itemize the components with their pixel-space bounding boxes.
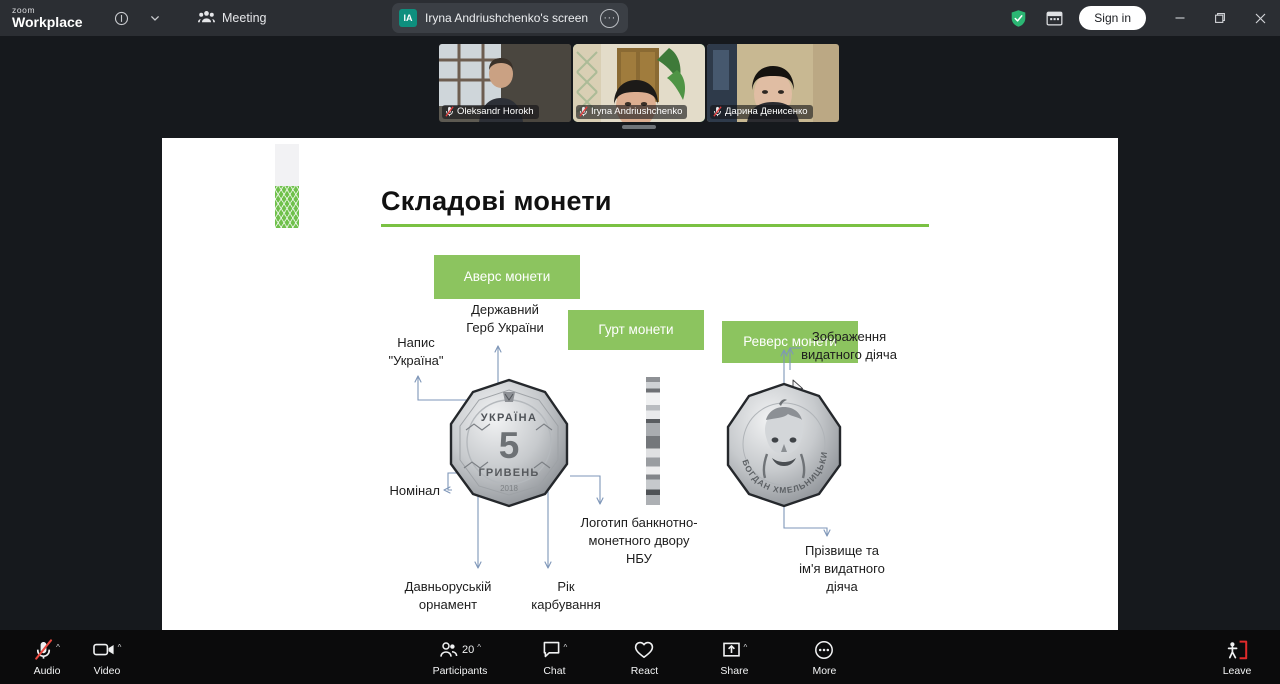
leave-door-icon (1225, 640, 1249, 660)
microphone-muted-icon (713, 106, 722, 117)
tab-shared-screen[interactable]: IA Iryna Andriushchenko's screen ··· (392, 3, 628, 33)
chat-label: Chat (543, 665, 565, 677)
thumbnail-name-badge: Iryna Andriushchenko (576, 105, 687, 119)
window-controls-area: Sign in (1010, 0, 1280, 36)
svg-text:5: 5 (499, 425, 520, 466)
thumbnail-name: Oleksandr Horokh (457, 106, 534, 117)
security-shield-icon[interactable] (1010, 9, 1027, 28)
more-label: More (812, 665, 836, 677)
sign-in-button[interactable]: Sign in (1079, 6, 1146, 30)
coin-obverse-image: УКРАЇНА 5 ГРИВЕНЬ 2018 (442, 376, 576, 510)
coin-reverse-image: БОГДАН ХМЕЛЬНИЦЬКИЙ (719, 380, 849, 510)
connector-arrows (162, 138, 1118, 632)
ellipsis-icon (814, 640, 834, 660)
participants-caret[interactable]: ^ (477, 643, 481, 652)
toolbar-center-group: 20 ^ Participants ^ Chat (0, 638, 1280, 677)
thumbnail-name: Дарина Денисенко (725, 106, 808, 117)
meeting-tab-label: Meeting (222, 11, 266, 25)
share-button[interactable]: ^ Share (711, 638, 757, 677)
shared-screen-slide: Складові монети Аверс монети Гурт монети… (162, 138, 1118, 632)
tab-shared-screen-label: Iryna Andriushchenko's screen (425, 11, 588, 25)
title-bar: zoom Workplace Meeting IA Iryna (0, 0, 1280, 36)
thumbnail-strip-drag-handle[interactable] (622, 125, 656, 129)
share-label: Share (720, 665, 748, 677)
ellipsis-circle-icon[interactable]: ··· (600, 9, 619, 28)
chat-caret[interactable]: ^ (564, 643, 568, 652)
screen-share-tabs: IA Iryna Andriushchenko's screen ··· (392, 3, 628, 33)
zoom-logo: zoom Workplace (12, 6, 90, 30)
thumbnail-name: Iryna Andriushchenko (591, 106, 682, 117)
zoom-window: zoom Workplace Meeting IA Iryna (0, 0, 1280, 684)
heart-icon (634, 641, 654, 659)
info-circle-icon[interactable] (108, 5, 134, 31)
meeting-toolbar: ^ Audio ^ Video (0, 630, 1280, 684)
thumbnail-participant[interactable]: Дарина Денисенко (707, 44, 839, 122)
meeting-tab[interactable]: Meeting (186, 0, 278, 36)
svg-text:УКРАЇНА: УКРАЇНА (481, 411, 538, 424)
svg-text:ГРИВЕНЬ: ГРИВЕНЬ (478, 467, 539, 479)
more-button[interactable]: More (801, 638, 847, 677)
coin-edge-image (646, 377, 660, 505)
thumbnail-participant[interactable]: Oleksandr Horokh (439, 44, 571, 122)
restore-window-icon[interactable] (1200, 0, 1240, 36)
participants-label: Participants (433, 665, 488, 677)
microphone-muted-icon (579, 106, 588, 117)
participants-button[interactable]: 20 ^ Participants (433, 638, 488, 677)
close-icon[interactable] (1240, 0, 1280, 36)
chat-bubble-icon (542, 641, 561, 658)
avatar: IA (399, 9, 417, 27)
calendar-icon[interactable] (1041, 5, 1067, 31)
react-label: React (631, 665, 658, 677)
brand-workplace: Workplace (12, 15, 90, 30)
chat-button[interactable]: ^ Chat (531, 638, 577, 677)
react-button[interactable]: React (621, 638, 667, 677)
share-screen-icon (722, 641, 741, 658)
participants-icon (439, 642, 459, 658)
people-group-icon (198, 10, 215, 27)
microphone-muted-icon (445, 106, 454, 117)
leave-button[interactable]: Leave (1214, 638, 1260, 677)
toolbar-right-group: Leave (1214, 638, 1260, 677)
thumbnail-name-badge: Дарина Денисенко (710, 105, 813, 119)
participant-thumbnail-strip: Oleksandr Horokh (439, 44, 839, 122)
participants-count: 20 (462, 644, 474, 656)
svg-text:2018: 2018 (500, 484, 518, 493)
thumbnail-name-badge: Oleksandr Horokh (442, 105, 539, 119)
minimize-icon[interactable] (1160, 0, 1200, 36)
leave-label: Leave (1223, 665, 1252, 677)
thumbnail-participant-active[interactable]: Iryna Andriushchenko (573, 44, 705, 122)
share-caret[interactable]: ^ (744, 643, 748, 652)
chevron-down-icon[interactable] (142, 5, 168, 31)
